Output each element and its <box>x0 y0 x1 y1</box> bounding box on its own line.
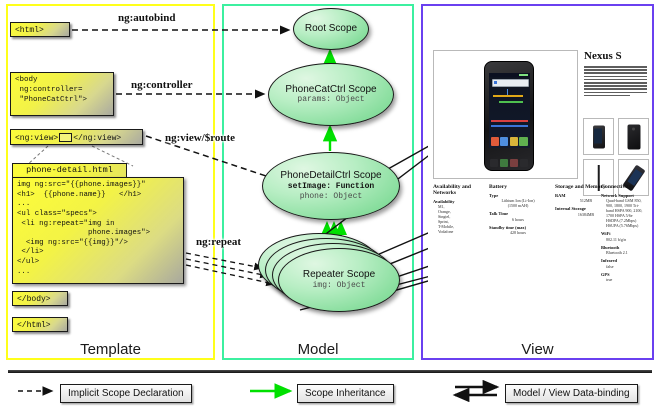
wire-label-ng-autobind: ng:autobind <box>118 12 175 24</box>
phone-screen <box>489 73 530 148</box>
spec-header-availability: Availability and Networks <box>433 184 481 196</box>
rendered-view-page: Nexus S Availability and Networks Availa… <box>428 18 648 338</box>
spec-value-conn-network-5: HSUPA (5.76Mbps) <box>601 223 649 228</box>
phone-hardware-keys <box>490 159 528 167</box>
thumbnail-phone-front[interactable] <box>583 118 614 155</box>
scope-phonecatctrl-member-params: params: Object <box>297 95 364 105</box>
scope-phonecatctrl-name: PhoneCatCtrl Scope <box>285 84 376 96</box>
scope-phonedetailctrl-member-setimage: setImage: Function <box>288 182 374 192</box>
product-description <box>584 66 647 98</box>
legend-item-data-binding: Model / View Data-binding <box>505 384 638 403</box>
code-box-html-close[interactable]: </html> <box>12 317 68 332</box>
ngview-placeholder-icon <box>59 133 72 142</box>
product-title: Nexus S <box>584 50 622 62</box>
note-filename: phone-detail.html <box>12 163 127 178</box>
spec-column-connectivity: Connectivity Network Support Quad-band G… <box>601 184 649 282</box>
scope-root[interactable]: Root Scope <box>293 8 369 50</box>
phone-wallpaper-line-red <box>491 120 528 122</box>
wire-label-ng-repeat: ng:repeat <box>196 236 241 248</box>
spec-value-battery-type-1: (1500 mAH) <box>489 203 547 208</box>
scope-phonedetailctrl-name: PhoneDetailCtrl Scope <box>280 170 381 182</box>
phone-front-thumb-icon <box>593 125 605 148</box>
panel-title-template: Template <box>6 341 215 358</box>
legend-item-implicit-scope: Implicit Scope Declaration <box>60 384 192 403</box>
spec-value-conn-wifi-0: 802.11 b/g/n <box>601 237 649 242</box>
scope-phonedetailctrl-member-phone: phone: Object <box>300 192 362 202</box>
ngview-open-tag: <ng:view> <box>15 134 58 143</box>
spec-value-availability-5: Vodafone <box>433 229 481 234</box>
hero-phone-image[interactable] <box>433 50 578 179</box>
phone-status-bar <box>489 73 530 77</box>
spec-header-battery: Battery <box>489 184 547 190</box>
scope-repeater-member-img: img: Object <box>313 281 366 291</box>
diagram-canvas: <html> <body ng:controller= "PhoneCatCtr… <box>0 0 660 420</box>
phone-back-thumb-icon <box>627 124 640 149</box>
scope-phonedetailctrl[interactable]: PhoneDetailCtrl Scope setImage: Function… <box>262 152 400 220</box>
scope-root-name: Root Scope <box>305 23 357 35</box>
spec-value-conn-bluetooth-0: Bluetooth 2.1 <box>601 250 649 255</box>
thumbnail-phone-back[interactable] <box>618 118 649 155</box>
scope-repeater[interactable]: Repeater Scope img: Object <box>278 248 400 312</box>
spec-value-battery-standby-0: 428 hours <box>489 230 547 235</box>
phone-wallpaper-line-green <box>499 101 523 103</box>
spec-value-battery-talktime-0: 6 hours <box>489 217 547 222</box>
scope-repeater-name: Repeater Scope <box>303 269 375 281</box>
code-box-body-open[interactable]: <body ng:controller= "PhoneCatCtrl"> <box>10 72 114 116</box>
legend-divider <box>8 370 652 373</box>
spec-header-connectivity: Connectivity <box>601 184 649 190</box>
code-box-html-open[interactable]: <html> <box>10 22 70 37</box>
phone-wallpaper-line-blue2 <box>491 125 528 127</box>
template-note-phone-detail[interactable]: phone-detail.html img ng:src="{{phone.im… <box>12 163 184 284</box>
note-code: img ng:src="{{phone.images}}" <h1> {{pho… <box>12 177 184 284</box>
spec-value-conn-gps-0: true <box>601 277 649 282</box>
spec-column-availability: Availability and Networks Availability M… <box>433 184 481 234</box>
phone-device-illustration <box>484 61 534 171</box>
spec-value-conn-infrared-0: false <box>601 264 649 269</box>
phone-wallpaper-line-yellow <box>493 95 523 97</box>
phone-search-widget <box>492 79 529 87</box>
code-box-ngview[interactable]: <ng:view></ng:view> <box>10 129 143 145</box>
spec-column-battery: Battery Type Lithium Ion (Li-Ion) (1500 … <box>489 184 547 235</box>
wire-label-ng-view-route: ng:view/$route <box>165 132 235 144</box>
panel-title-model: Model <box>222 341 414 358</box>
panel-title-view: View <box>421 341 654 358</box>
wire-label-ng-controller: ng:controller <box>131 79 193 91</box>
scope-phonecatctrl[interactable]: PhoneCatCtrl Scope params: Object <box>268 63 394 126</box>
phone-dock-icons <box>491 137 528 146</box>
ngview-close-tag: </ng:view> <box>73 134 121 143</box>
legend-item-scope-inheritance: Scope Inheritance <box>297 384 394 403</box>
specs-table: Availability and Networks Availability M… <box>433 184 645 284</box>
code-box-body-close[interactable]: </body> <box>12 291 68 306</box>
